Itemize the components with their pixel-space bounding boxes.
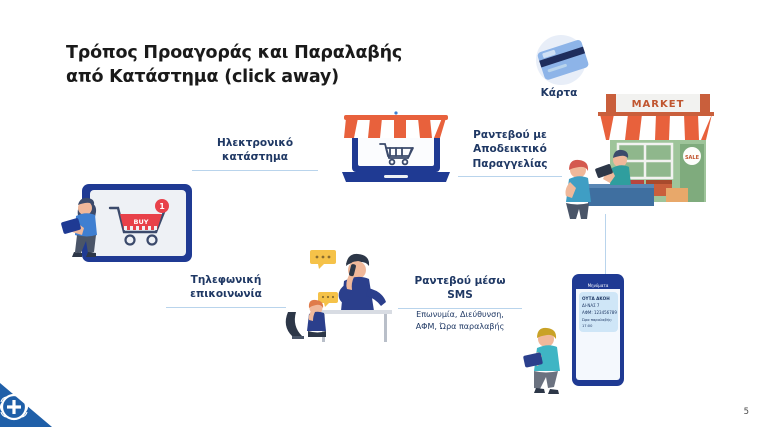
label-appointment-sms: Ραντεβού μέσω SMS (398, 274, 522, 309)
label-card: Κάρτα (519, 86, 599, 100)
person-man-on-phone (339, 254, 386, 311)
speech-bubble-top (310, 250, 336, 269)
phone-call-illustration (278, 248, 394, 344)
market-sale-badge: SALE (685, 155, 700, 161)
tablet-shopping-illustration: BUY 1 (52, 178, 202, 270)
sms-body-line-2: ΔΙ-ΝΑΣ 7 (582, 303, 600, 308)
sms-header-text: Μηνύματα (588, 283, 609, 288)
label-phone-communication: Τηλεφωνική επικοινωνία (166, 273, 286, 308)
sms-body-line-4: Ώρα παραλαβής: (581, 318, 612, 322)
tablet-cart-buy-text: BUY (134, 218, 149, 226)
tablet-cart-badge: 1 (159, 202, 165, 211)
market-customer-illustration (556, 158, 600, 220)
label-appointment-order-receipt: Ραντεβού με Αποδεικτικό Παραγγελίας (458, 128, 562, 177)
connector-market-to-phone (605, 214, 606, 276)
sms-body-line-1: ΟΥΤΑ ΑΚΟΗ (582, 296, 610, 301)
credit-card-icon (516, 32, 602, 90)
title-line-1: Τρόπος Προαγοράς και Παραλαβής (66, 43, 402, 63)
person-with-tablet-illustration (520, 326, 568, 398)
label-eshop-line-2: κατάστημα (222, 151, 288, 163)
label-sms-line-1: Ραντεβού μέσω (415, 275, 506, 287)
label-phone-line-2: επικοινωνία (190, 288, 262, 300)
sms-body-line-5: 17:00 (582, 324, 593, 328)
label-sms-sub-line-2: ΑΦΜ, Ώρα παραλαβής (416, 322, 505, 331)
label-electronic-store: Ηλεκτρονικό κατάστημα (192, 136, 318, 171)
page-number: 5 (744, 407, 749, 417)
label-phone-line-1: Τηλεφωνική (191, 274, 262, 286)
laptop-eshop-illustration (338, 104, 454, 186)
label-sms-sub-line-1: Επωνυμία, Διεύθυνση, (416, 310, 504, 319)
market-sign-text: MARKET (632, 99, 685, 110)
label-appointment-line-2: Αποδεικτικό (473, 143, 547, 155)
label-sms-details: Επωνυμία, Διεύθυνση, ΑΦΜ, Ώρα παραλαβής (398, 309, 522, 332)
sms-phone-illustration: Μηνύματα ΟΥΤΑ ΑΚΟΗ ΔΙ-ΝΑΣ 7 ΑΦΜ: 1234567… (558, 272, 630, 390)
label-sms-line-2: SMS (447, 289, 473, 301)
label-eshop-line-1: Ηλεκτρονικό (217, 137, 293, 149)
title-line-2: από Κατάστημα (click away) (66, 66, 486, 90)
label-phone-underline (166, 307, 286, 308)
market-storefront-illustration: MARKET SALE (588, 88, 724, 216)
market-customer (588, 140, 592, 152)
person-with-laptop (61, 198, 97, 257)
label-appointment-line-3: Παραγγελίας (472, 158, 547, 170)
label-appointment-line-1: Ραντεβού με (473, 129, 547, 141)
label-card-text: Κάρτα (541, 87, 578, 99)
page-title: Τρόπος Προαγοράς και Παραλαβής από Κατάσ… (66, 42, 486, 90)
greek-government-emblem (0, 383, 52, 427)
sms-body-line-3: ΑΦΜ: 123456789 (582, 310, 617, 315)
label-eshop-underline (192, 170, 318, 171)
slide-canvas: Τρόπος Προαγοράς και Παραλαβής από Κατάσ… (0, 0, 773, 427)
label-appointment-underline (458, 176, 562, 177)
